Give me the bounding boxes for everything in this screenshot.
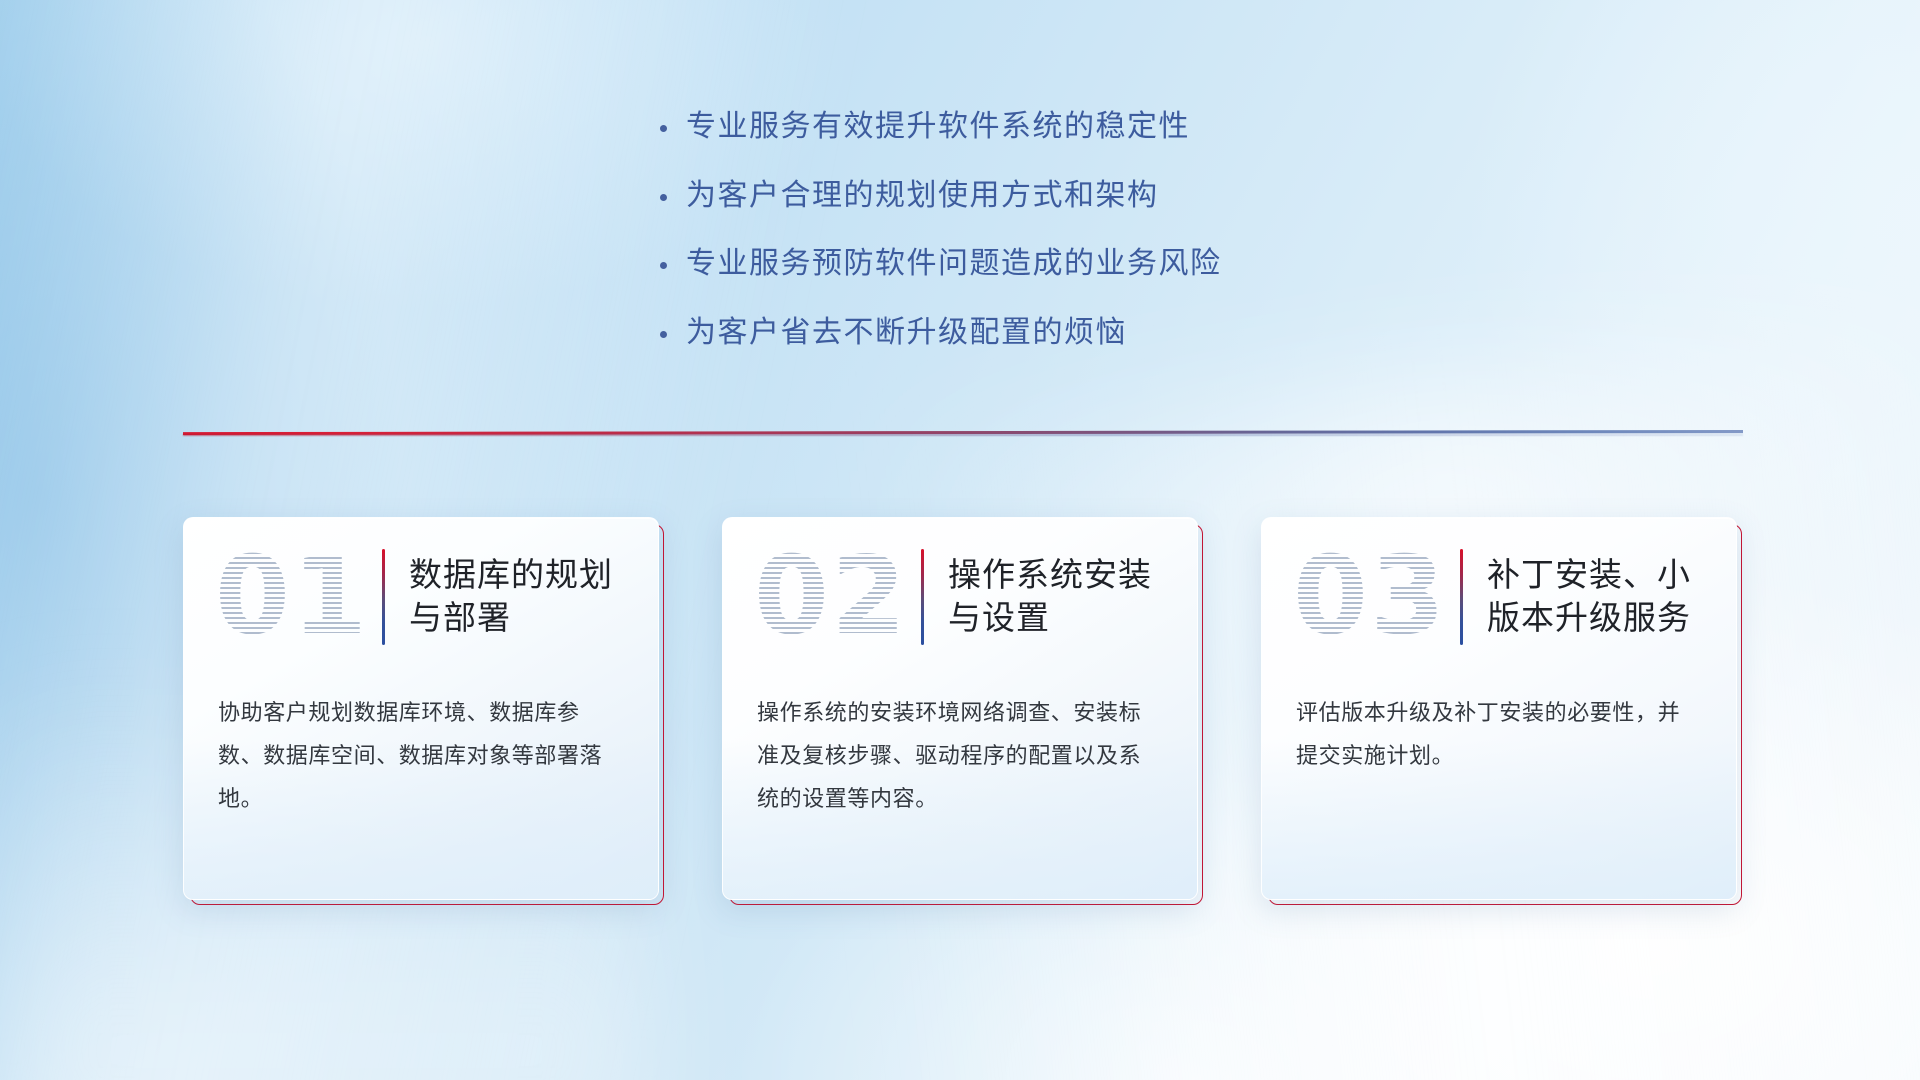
service-card-01[interactable]: 01 数据库的规划与部署 协助客户规划数据库环境、数据库参数、数据库空间、数据库… xyxy=(183,517,664,905)
bullet-dot-icon xyxy=(660,252,686,269)
service-card-03[interactable]: 03 补丁安装、小版本升级服务 评估版本升级及补丁安装的必要性，并提交实施计划。 xyxy=(1261,517,1742,905)
card-surface: 03 补丁安装、小版本升级服务 评估版本升级及补丁安装的必要性，并提交实施计划。 xyxy=(1261,517,1737,900)
card-body-text: 操作系统的安装环境网络调查、安装标准及复核步骤、驱动程序的配置以及系统的设置等内… xyxy=(723,676,1197,821)
card-number-watermark: 01 xyxy=(208,537,376,657)
card-number-watermark: 03 xyxy=(1286,537,1454,657)
bullet-text: 为客户合理的规划使用方式和架构 xyxy=(686,177,1159,215)
card-header: 02 操作系统安装与设置 xyxy=(723,518,1197,676)
card-accent-bar xyxy=(382,549,385,645)
bullet-text: 专业服务预防软件问题造成的业务风险 xyxy=(686,245,1222,283)
divider-hairline xyxy=(183,434,1743,436)
card-accent-bar xyxy=(1460,549,1463,645)
bullet-dot-icon xyxy=(660,321,686,338)
list-item: 为客户合理的规划使用方式和架构 xyxy=(660,177,1480,215)
list-item: 为客户省去不断升级配置的烦恼 xyxy=(660,314,1480,352)
service-card-02[interactable]: 02 操作系统安装与设置 操作系统的安装环境网络调查、安装标准及复核步骤、驱动程… xyxy=(722,517,1203,905)
card-title: 数据库的规划与部署 xyxy=(409,554,632,640)
card-surface: 01 数据库的规划与部署 协助客户规划数据库环境、数据库参数、数据库空间、数据库… xyxy=(183,517,659,900)
bullet-text: 专业服务有效提升软件系统的稳定性 xyxy=(686,108,1190,146)
card-body-text: 协助客户规划数据库环境、数据库参数、数据库空间、数据库对象等部署落地。 xyxy=(184,676,658,821)
card-number-text: 03 xyxy=(1286,537,1454,657)
card-header: 01 数据库的规划与部署 xyxy=(184,518,658,676)
list-item: 专业服务预防软件问题造成的业务风险 xyxy=(660,245,1480,283)
card-title: 操作系统安装与设置 xyxy=(948,554,1171,640)
service-card-group: 01 数据库的规划与部署 协助客户规划数据库环境、数据库参数、数据库空间、数据库… xyxy=(183,517,1743,905)
card-accent-bar xyxy=(921,549,924,645)
bullet-dot-icon xyxy=(660,115,686,132)
card-body-text: 评估版本升级及补丁安装的必要性，并提交实施计划。 xyxy=(1262,676,1736,778)
list-item: 专业服务有效提升软件系统的稳定性 xyxy=(660,108,1480,146)
card-number-text: 01 xyxy=(208,537,376,657)
benefit-bullet-list: 专业服务有效提升软件系统的稳定性 为客户合理的规划使用方式和架构 专业服务预防软… xyxy=(660,108,1480,382)
bullet-dot-icon xyxy=(660,184,686,201)
card-title: 补丁安装、小版本升级服务 xyxy=(1487,554,1710,640)
bullet-text: 为客户省去不断升级配置的烦恼 xyxy=(686,314,1127,352)
card-header: 03 补丁安装、小版本升级服务 xyxy=(1262,518,1736,676)
card-number-text: 02 xyxy=(747,537,915,657)
section-divider xyxy=(183,424,1743,442)
card-surface: 02 操作系统安装与设置 操作系统的安装环境网络调查、安装标准及复核步骤、驱动程… xyxy=(722,517,1198,900)
card-number-watermark: 02 xyxy=(747,537,915,657)
